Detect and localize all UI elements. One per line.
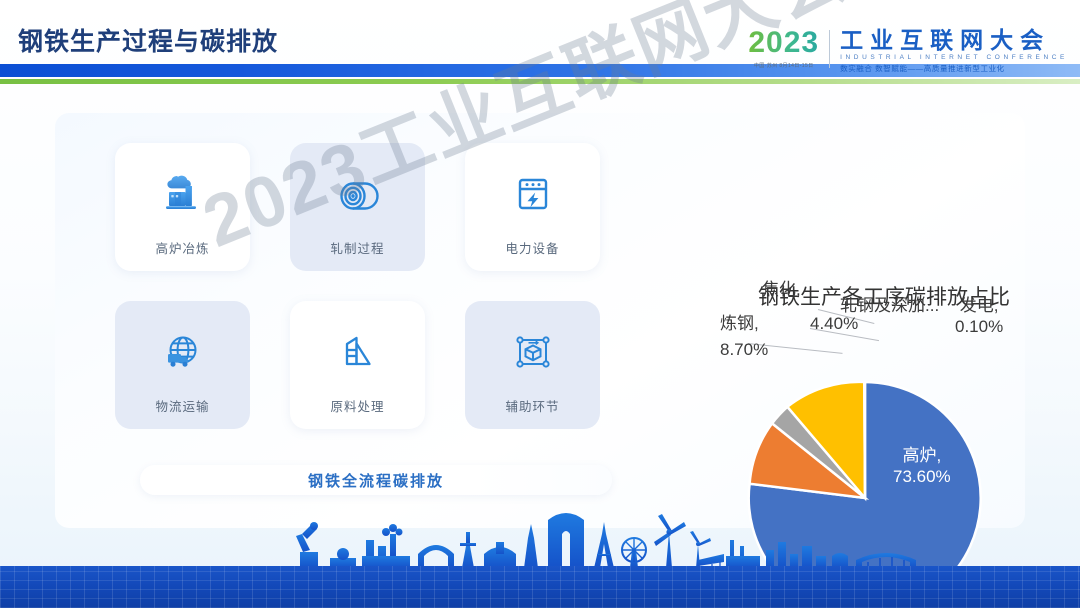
process-card-raw-material[interactable]: 原料处理 [290, 301, 425, 429]
pie-label-coking: 焦化, [762, 279, 801, 300]
steel-coil-icon [334, 158, 382, 216]
logo-english-name: INDUSTRIAL INTERNET CONFERENCE [840, 54, 1068, 61]
header-divider-green [0, 79, 1080, 84]
process-card-label: 原料处理 [330, 396, 384, 415]
process-card-label: 辅助环节 [505, 396, 559, 415]
process-card-label: 轧制过程 [330, 238, 384, 257]
process-card-label: 高炉冶炼 [155, 238, 209, 257]
logo-year-block: 2023 中国·苏州 8月14日-15日 [748, 28, 829, 69]
pie-label-rolling: 轧钢及深加... [840, 295, 939, 316]
pie-label-blast-furnace: 高炉, 73.60% [893, 445, 951, 488]
process-card-logistics[interactable]: 物流运输 [115, 301, 250, 429]
logo-chinese-name: 工业互联网大会 [840, 28, 1068, 52]
logo-slogan: 数实融合 数智赋能——高质量推进新型工业化 [840, 63, 1068, 74]
auxiliary-box-icon [510, 316, 556, 374]
flow-summary-label: 钢铁全流程碳排放 [308, 470, 444, 491]
skyline-icon [0, 510, 1080, 572]
footer-decoration [0, 520, 1080, 608]
process-card-power-equipment[interactable]: 电力设备 [465, 143, 600, 271]
flow-summary-bar: 钢铁全流程碳排放 [140, 465, 612, 495]
pie-label-coking-line1: 焦化, [762, 279, 801, 300]
process-card-auxiliary[interactable]: 辅助环节 [465, 301, 600, 429]
content-panel: 高炉冶炼 轧制过程 [55, 113, 1025, 528]
pie-label-steelmaking: 炼钢, [720, 313, 759, 334]
conference-logo: 2023 中国·苏州 8月14日-15日 工业互联网大会 INDUSTRIAL … [748, 28, 1068, 74]
logo-year: 2023 [748, 28, 819, 58]
pie-label-power-generation: 发电, 0.10% [955, 295, 1003, 338]
logo-name-block: 工业互联网大会 INDUSTRIAL INTERNET CONFERENCE 数… [830, 28, 1068, 74]
factory-icon [160, 158, 206, 216]
raw-material-icon [334, 316, 382, 374]
footer-grid-band [0, 566, 1080, 608]
pie-chart: 钢铁生产各工序碳排放占比 [700, 153, 1020, 498]
process-card-label: 电力设备 [505, 238, 559, 257]
power-meter-icon [512, 158, 554, 216]
process-card-grid: 高炉冶炼 轧制过程 [115, 143, 600, 429]
pie-slice-power-generation[interactable] [864, 382, 865, 498]
logo-date: 中国·苏州 8月14日-15日 [748, 62, 819, 69]
page-title: 钢铁生产过程与碳排放 [18, 22, 278, 58]
process-card-blast-furnace[interactable]: 高炉冶炼 [115, 143, 250, 271]
pie-label-steelmaking-value: 8.70% [720, 339, 768, 360]
process-card-label: 物流运输 [155, 396, 209, 415]
process-card-rolling[interactable]: 轧制过程 [290, 143, 425, 271]
logistics-icon [160, 316, 206, 374]
slide-canvas: 钢铁生产过程与碳排放 2023 中国·苏州 8月14日-15日 工业互联网大会 … [0, 0, 1080, 608]
